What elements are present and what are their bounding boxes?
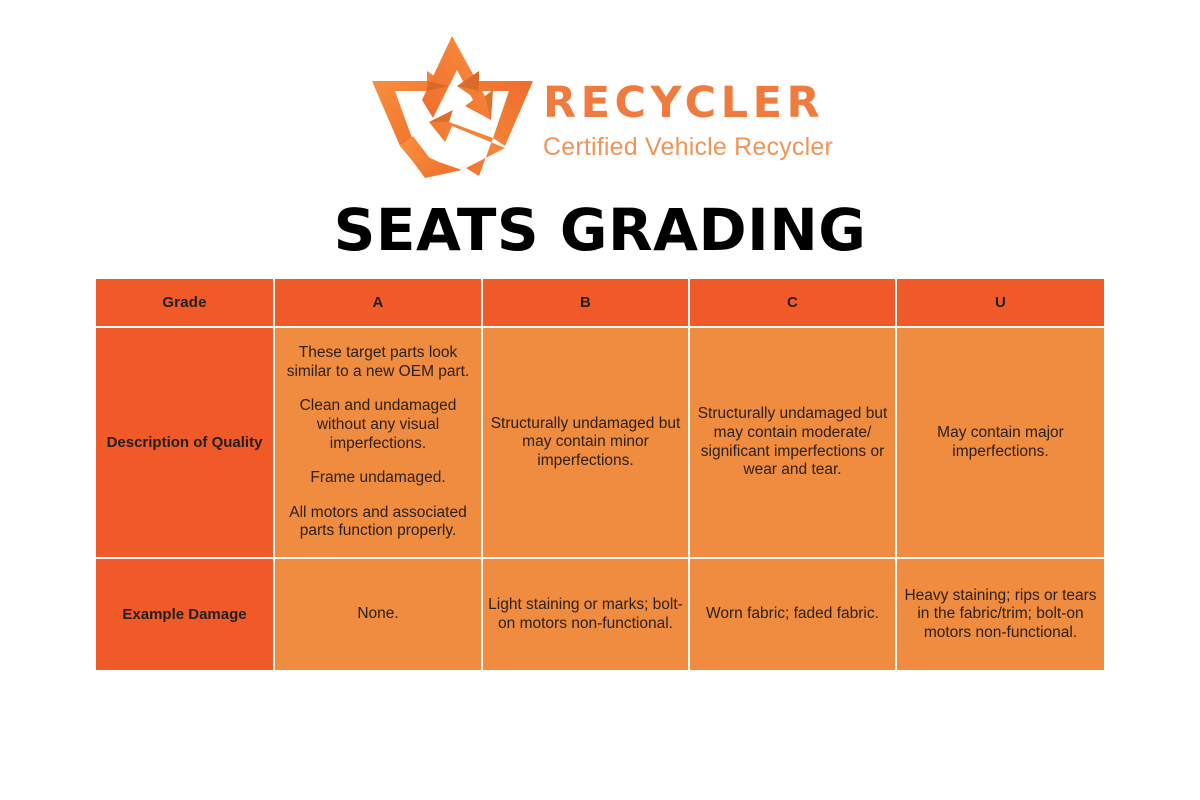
cell-paragraph: Worn fabric; faded fabric.: [690, 605, 895, 624]
row-label-example-damage: Example Damage: [96, 559, 275, 670]
cell-paragraph: Structurally undamaged but may contain m…: [483, 415, 688, 471]
column-header-u: U: [897, 279, 1104, 328]
cell-paragraph: None.: [275, 605, 481, 624]
brand-logo: RECYCLER Certified Vehicle Recycler: [0, 30, 1200, 180]
cell-description-b: Structurally undamaged but may contain m…: [483, 328, 690, 559]
cell-damage-u: Heavy staining; rips or tears in the fab…: [897, 559, 1104, 670]
cell-paragraph: Clean and undamaged without any visual i…: [275, 397, 481, 453]
cell-description-a: These target parts look similar to a new…: [275, 328, 483, 559]
cell-paragraph: Frame undamaged.: [275, 469, 481, 488]
cell-paragraph: May contain major imperfections.: [897, 424, 1104, 461]
table-header-row: Grade A B C U: [96, 279, 1104, 328]
cell-description-c: Structurally undamaged but may contain m…: [690, 328, 897, 559]
recycling-star-icon: [367, 30, 537, 180]
column-header-c: C: [690, 279, 897, 328]
table-row-example-damage: Example Damage None. Light staining or m…: [96, 559, 1104, 670]
logo-text-group: RECYCLER Certified Vehicle Recycler: [543, 50, 833, 160]
cell-paragraph: Structurally undamaged but may contain m…: [690, 405, 895, 479]
column-header-b: B: [483, 279, 690, 328]
logo-tagline: Certified Vehicle Recycler: [543, 135, 833, 160]
column-header-a: A: [275, 279, 483, 328]
cell-description-u: May contain major imperfections.: [897, 328, 1104, 559]
column-header-grade: Grade: [96, 279, 275, 328]
row-label-description-of-quality: Description of Quality: [96, 328, 275, 559]
seats-grading-table: Grade A B C U Description of Quality The…: [96, 279, 1104, 670]
table-row-description-of-quality: Description of Quality These target part…: [96, 328, 1104, 559]
cell-damage-b: Light staining or marks; bolt-on motors …: [483, 559, 690, 670]
cell-paragraph: Light staining or marks; bolt-on motors …: [483, 596, 688, 633]
cell-paragraph: All motors and associated parts function…: [275, 504, 481, 541]
cell-damage-a: None.: [275, 559, 483, 670]
logo-inner: RECYCLER Certified Vehicle Recycler: [367, 30, 833, 180]
page-title: SEATS GRADING: [0, 196, 1200, 264]
cell-paragraph: Heavy staining; rips or tears in the fab…: [897, 587, 1104, 643]
cell-paragraph: These target parts look similar to a new…: [275, 344, 481, 381]
logo-wordmark: RECYCLER: [543, 82, 833, 125]
cell-damage-c: Worn fabric; faded fabric.: [690, 559, 897, 670]
